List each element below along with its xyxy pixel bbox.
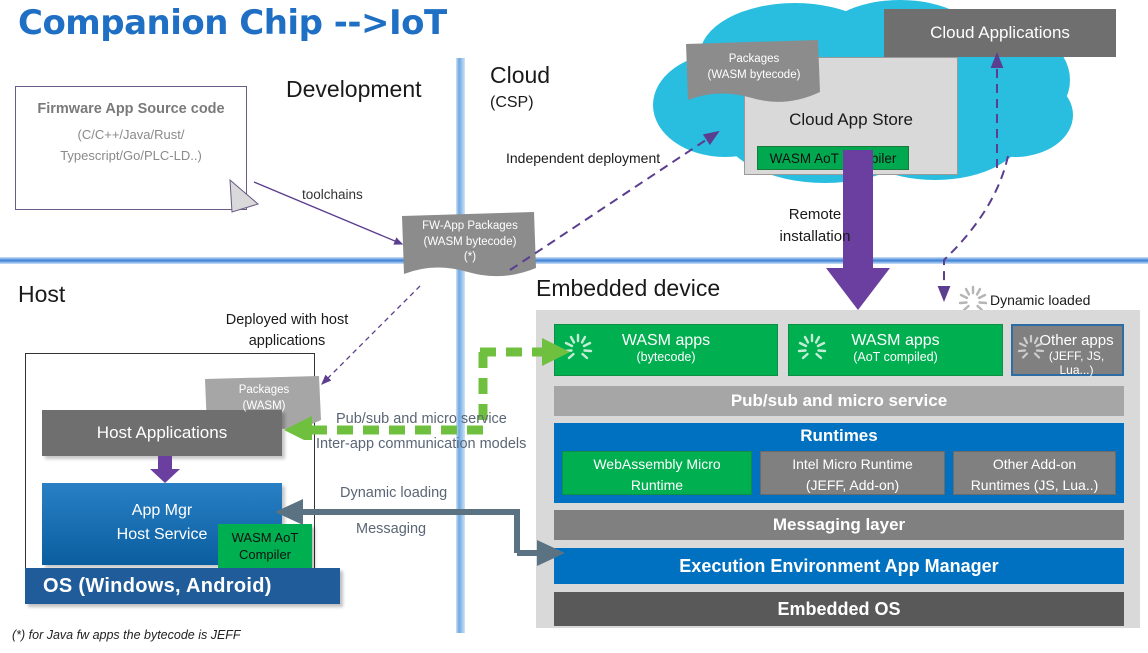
fw-packages-line3: (*) xyxy=(402,250,538,266)
label-inter-app-communication-models: Inter-app communication models xyxy=(316,436,526,452)
embedded-app-manager-layer: Execution Environment App Manager xyxy=(554,548,1124,584)
embedded-os-layer: Embedded OS xyxy=(554,592,1124,626)
cloud-app-store-title: Cloud App Store xyxy=(745,110,957,130)
host-packages-line2: (WASM) xyxy=(205,399,323,415)
fw-app-packages-callout-text: FW-App Packages (WASM bytecode) (*) xyxy=(402,219,538,266)
section-heading-host: Host xyxy=(18,281,65,308)
cloud-packages-callout-text: Packages (WASM bytecode) xyxy=(686,52,822,83)
fw-packages-line2: (WASM bytecode) xyxy=(402,235,538,251)
firmware-source-langs-line1: (C/C++/Java/Rust/ xyxy=(16,124,246,145)
label-dynamic-loading: Dynamic loading xyxy=(340,485,447,501)
embedded-app-other: Other apps (JEFF, JS, Lua...) xyxy=(1011,324,1124,376)
section-heading-development: Development xyxy=(286,76,422,103)
cloud-packages-line2: (WASM bytecode) xyxy=(686,68,822,84)
embedded-messaging-layer: Messaging layer xyxy=(554,510,1124,540)
cloud-packages-line1: Packages xyxy=(686,52,822,68)
label-remote-installation: Remote installation xyxy=(770,204,860,248)
embedded-runtime-intel-line1: Intel Micro Runtime xyxy=(761,454,944,475)
remote-installation-line2: installation xyxy=(770,226,860,248)
embedded-runtime-wamr-line2: Runtime xyxy=(563,475,751,496)
app-mgr-line1: App Mgr xyxy=(42,499,282,523)
fw-packages-line1: FW-App Packages xyxy=(402,219,538,235)
host-packages-callout-text: Packages (WASM) xyxy=(205,383,323,414)
embedded-runtime-intel-line2: (JEFF, Add-on) xyxy=(761,475,944,496)
dynamic-loaded-burst-icon xyxy=(797,333,827,363)
remote-installation-line1: Remote xyxy=(770,204,860,226)
embedded-runtimes-title: Runtimes xyxy=(554,426,1124,446)
firmware-source-title: Firmware App Source code xyxy=(16,101,246,117)
firmware-source-box: Firmware App Source code (C/C++/Java/Rus… xyxy=(15,86,247,210)
dynamic-loaded-burst-icon xyxy=(1017,334,1045,362)
host-os-box: OS (Windows, Android) xyxy=(25,568,340,604)
embedded-runtimes-block: Runtimes WebAssembly Micro Runtime Intel… xyxy=(554,423,1124,503)
footnote: (*) for Java fw apps the bytecode is JEF… xyxy=(12,628,241,642)
embedded-runtime-intel: Intel Micro Runtime (JEFF, Add-on) xyxy=(760,451,945,495)
label-dynamic-loaded: Dynamic loaded xyxy=(990,292,1090,308)
label-messaging: Messaging xyxy=(356,521,426,537)
section-heading-cloud: Cloud xyxy=(490,62,550,89)
embedded-runtime-other-line1: Other Add-on xyxy=(954,454,1115,475)
host-apps-to-appmgr-arrow xyxy=(148,456,182,484)
embedded-runtime-wamr: WebAssembly Micro Runtime xyxy=(562,451,752,495)
embedded-pubsub-layer: Pub/sub and micro service xyxy=(554,386,1124,416)
embedded-runtime-other-line2: Runtimes (JS, Lua..) xyxy=(954,475,1115,496)
host-packages-line1: Packages xyxy=(205,383,323,399)
embedded-app-wasm-aot: WASM apps (AoT compiled) xyxy=(788,324,1003,376)
embedded-runtime-other: Other Add-on Runtimes (JS, Lua..) xyxy=(953,451,1116,495)
label-toolchains: toolchains xyxy=(302,187,363,202)
embedded-app-wasm-bytecode: WASM apps (bytecode) xyxy=(554,324,778,376)
host-applications-box: Host Applications xyxy=(42,410,282,456)
embedded-runtime-wamr-line1: WebAssembly Micro xyxy=(563,454,751,475)
embedded-device-container: WASM apps (bytecode) WASM apps (AoT comp… xyxy=(536,310,1140,628)
label-independent-deployment: Independent deployment xyxy=(506,150,660,166)
firmware-source-langs: (C/C++/Java/Rust/ Typescript/Go/PLC-LD..… xyxy=(16,124,246,166)
firmware-source-langs-line2: Typescript/Go/PLC-LD..) xyxy=(16,145,246,166)
page-title: Companion Chip -->IoT xyxy=(18,3,447,43)
label-pubsub-micro-service: Pub/sub and micro service xyxy=(336,411,507,427)
